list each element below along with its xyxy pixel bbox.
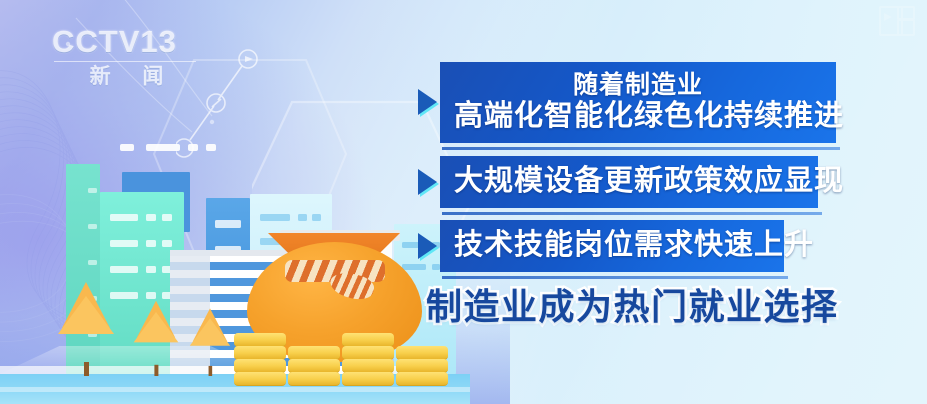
- arrow-marker-icon: [418, 169, 437, 195]
- tree-left: [62, 282, 110, 376]
- logo-text-row: CCTV13: [52, 26, 202, 57]
- arrow-marker-icon: [418, 233, 437, 259]
- logo-divider: [54, 61, 196, 62]
- headline-box-3: 技术技能岗位需求快速上升: [440, 220, 784, 272]
- headline-1-line-1: 随着制造业: [454, 70, 822, 100]
- headline-box-2: 大规模设备更新政策效应显现: [440, 156, 818, 208]
- headline-2-line-1: 大规模设备更新政策效应显现: [454, 164, 804, 199]
- headline-row-2: 大规模设备更新政策效应显现: [418, 156, 888, 208]
- headline-1-line-2: 高端化智能化绿色化持续推进: [454, 100, 822, 134]
- headline-4-text: 制造业成为热门就业选择: [426, 278, 888, 330]
- coin-stack-4: [396, 347, 448, 386]
- headline-3-line-1: 技术技能岗位需求快速上升: [454, 228, 770, 263]
- headline-panel: 随着制造业 高端化智能化绿色化持续推进 大规模设备更新政策效应显现 技术技能岗位…: [418, 62, 888, 343]
- headline-row-4: 制造业成为热门就业选择: [418, 278, 888, 330]
- foreground-stripe: [0, 387, 470, 392]
- headline-row-1: 随着制造业 高端化智能化绿色化持续推进: [418, 62, 888, 143]
- logo-cctv-text: CCTV: [52, 24, 140, 59]
- tree-right: [193, 308, 228, 376]
- city-illustration: [0, 104, 470, 404]
- headline-box-1: 随着制造业 高端化智能化绿色化持续推进: [440, 62, 836, 143]
- coin-stack-2: [288, 347, 340, 386]
- corner-watermark-icon: [879, 6, 915, 34]
- logo-channel-number: 13: [140, 24, 176, 59]
- arrow-marker-icon: [418, 89, 437, 115]
- cctv-channel-logo: CCTV13 新 闻: [52, 26, 202, 98]
- broadcast-screen: CCTV13 新 闻: [0, 0, 927, 404]
- coin-stack-3: [342, 334, 394, 386]
- coin-stack-1: [234, 334, 286, 386]
- logo-subtitle: 新 闻: [52, 65, 202, 88]
- headline-row-3: 技术技能岗位需求快速上升: [418, 220, 888, 272]
- tree-mid: [137, 301, 175, 376]
